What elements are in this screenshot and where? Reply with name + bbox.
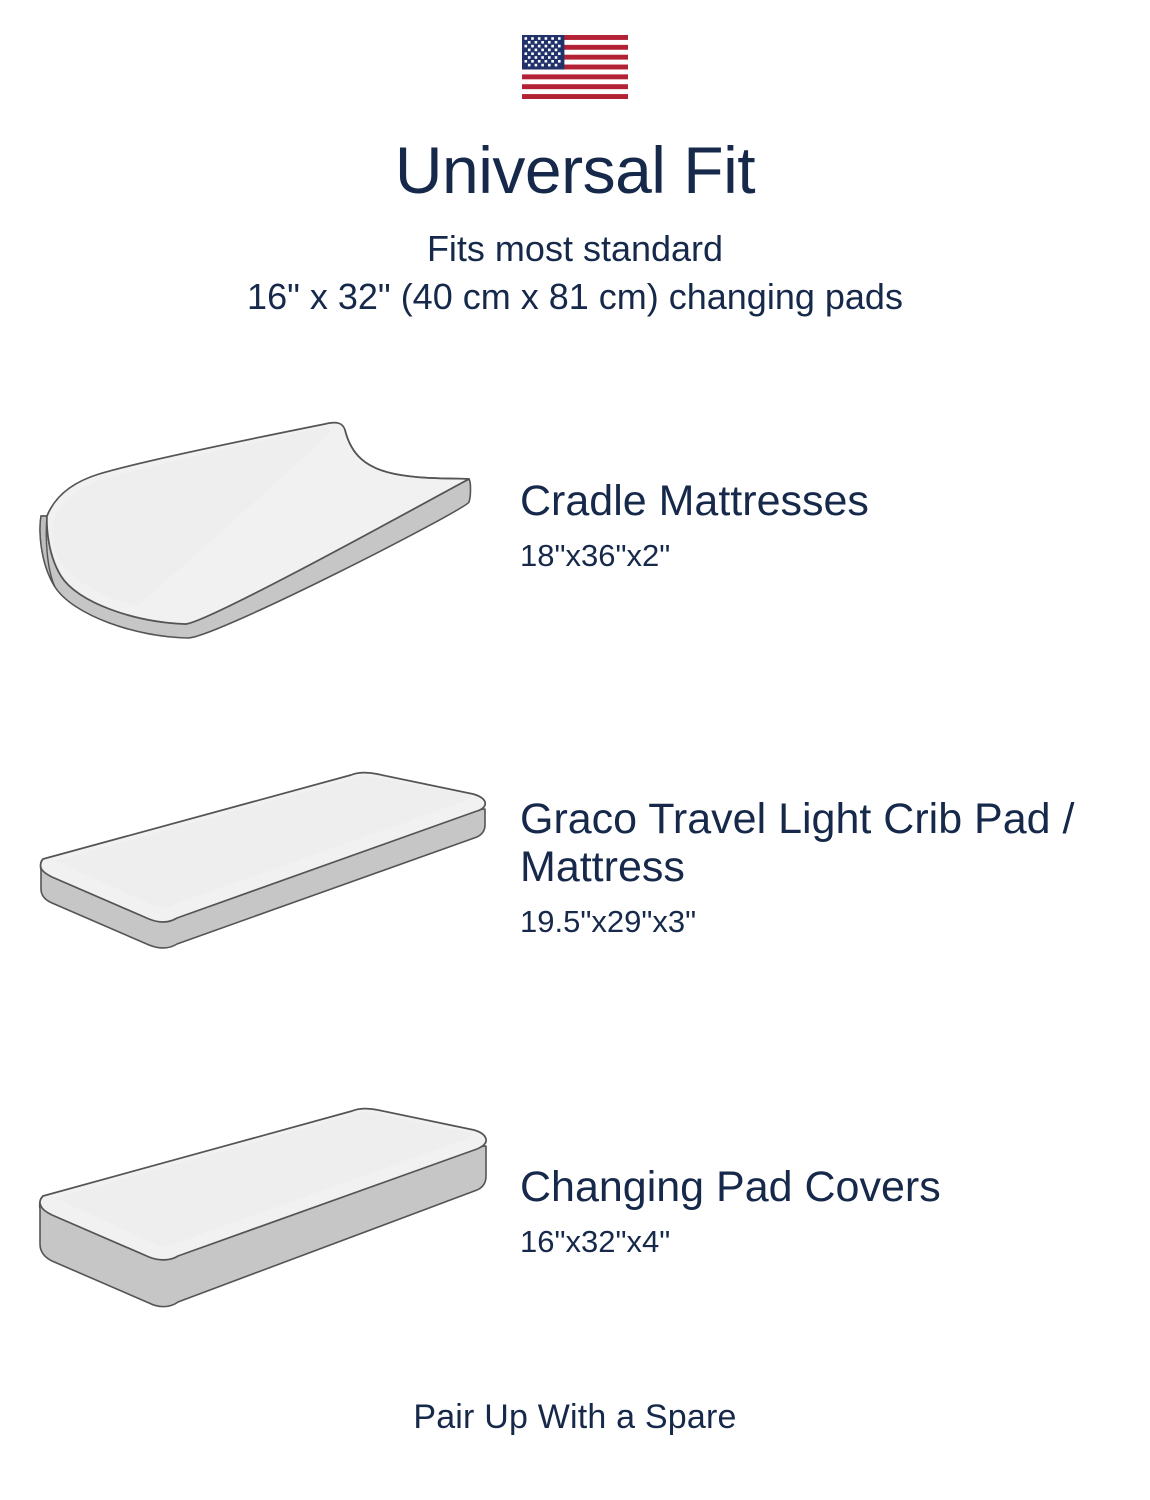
flat-mattress-icon xyxy=(0,717,520,1017)
subtitle-line-1: Fits most standard xyxy=(0,225,1150,273)
infographic-page: Universal Fit Fits most standard 16" x 3… xyxy=(0,0,1150,1500)
us-flag-icon xyxy=(522,35,628,99)
list-item: Cradle Mattresses 18"x36"x2" xyxy=(0,360,1150,690)
page-title: Universal Fit xyxy=(0,137,1150,203)
item-dimensions: 16"x32"x4" xyxy=(520,1225,1110,1259)
item-name: Cradle Mattresses xyxy=(520,477,1110,525)
header: Universal Fit Fits most standard 16" x 3… xyxy=(0,99,1150,320)
product-list: Cradle Mattresses 18"x36"x2" Graco Trave… xyxy=(0,356,1150,1376)
footer: Pair Up With a Spare xyxy=(0,1398,1150,1437)
contoured-changing-pad-icon xyxy=(0,375,520,675)
item-name: Graco Travel Light Crib Pad / Mattress xyxy=(520,795,1110,891)
item-text-block: Graco Travel Light Crib Pad / Mattress 1… xyxy=(520,795,1150,939)
thick-mattress-icon xyxy=(0,1061,520,1361)
item-dimensions: 19.5"x29"x3" xyxy=(520,905,1110,939)
item-text-block: Cradle Mattresses 18"x36"x2" xyxy=(520,477,1150,573)
item-text-block: Changing Pad Covers 16"x32"x4" xyxy=(520,1163,1150,1259)
footer-tagline: Pair Up With a Spare xyxy=(413,1398,736,1436)
list-item: Graco Travel Light Crib Pad / Mattress 1… xyxy=(0,702,1150,1032)
list-item: Changing Pad Covers 16"x32"x4" xyxy=(0,1046,1150,1376)
subtitle-line-2: 16" x 32" (40 cm x 81 cm) changing pads xyxy=(0,273,1150,321)
page-subtitle: Fits most standard 16" x 32" (40 cm x 81… xyxy=(0,225,1150,320)
item-dimensions: 18"x36"x2" xyxy=(520,539,1110,573)
item-name: Changing Pad Covers xyxy=(520,1163,1110,1211)
